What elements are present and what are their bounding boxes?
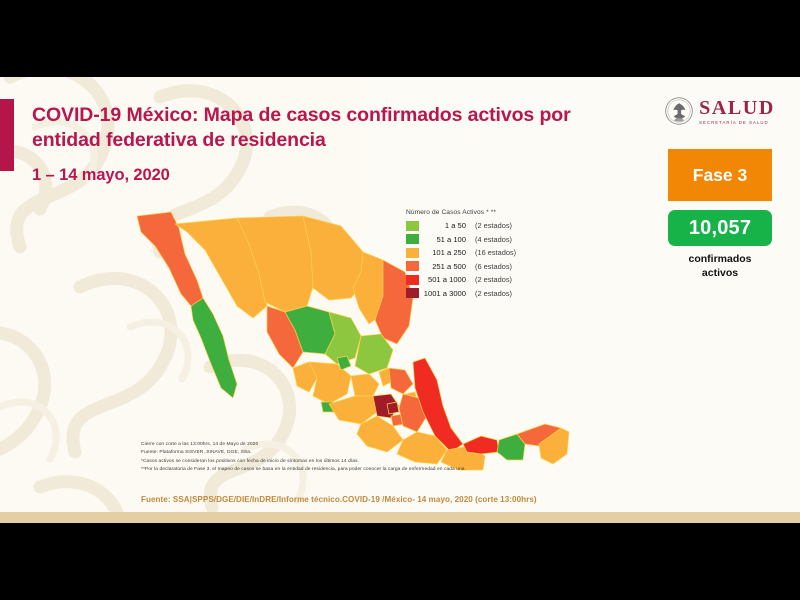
title-block: COVID-19 México: Mapa de casos confirmad…	[32, 103, 612, 185]
caption-line-2: activos	[650, 267, 790, 281]
state-hidalgo	[389, 368, 413, 394]
footnote-line: Fuente: Plataforma SISVER, SINAVE, DGE, …	[141, 449, 466, 457]
letterbox-top	[0, 0, 800, 77]
legend-swatch	[406, 248, 419, 258]
state-tabasco	[463, 436, 499, 454]
footnote-line: **Por la declaratoria de Fase 3, el mape…	[141, 466, 466, 474]
legend-swatch	[406, 261, 419, 271]
map-footnotes: Cierre con corte a las 13:00hrs, 14 de M…	[141, 441, 466, 475]
legend-swatch	[406, 221, 419, 231]
active-cases-badge: 10,057	[668, 210, 772, 246]
legend-swatch	[406, 234, 419, 244]
active-cases-value: 10,057	[689, 217, 751, 240]
state-guanajuato	[351, 374, 379, 396]
phase-badge: Fase 3	[668, 149, 772, 201]
presentation-slide: COVID-19 México: Mapa de casos confirmad…	[0, 77, 800, 523]
source-citation: Fuente: SSA|SPPS/DGE/DIE/InDRE/Informe t…	[141, 495, 537, 504]
footer-strip	[0, 512, 800, 523]
footnote-line: Cierre con corte a las 13:00hrs, 14 de M…	[141, 441, 466, 449]
legend-title: Número de Casos Activos * **	[406, 209, 516, 216]
legend-range: 101 a 250	[419, 248, 475, 257]
legend-item: 251 a 500 (6 estados)	[406, 260, 516, 272]
caption-line-1: confirmados	[650, 253, 790, 267]
legend-state-count: (4 estados)	[475, 235, 512, 244]
phase-label: Fase 3	[693, 165, 747, 186]
legend-item: 51 a 100 (4 estados)	[406, 233, 516, 245]
legend-item: 1001 a 3000 (2 estados)	[406, 287, 516, 299]
legend-state-count: (6 estados)	[475, 262, 512, 271]
slide-stage: COVID-19 México: Mapa de casos confirmad…	[0, 0, 800, 600]
legend-range: 251 a 500	[419, 262, 475, 271]
salud-logo: SALUD SECRETARÍA DE SALUD	[650, 91, 790, 131]
legend-range: 51 a 100	[419, 235, 475, 244]
title-accent-bar	[0, 99, 14, 171]
legend-swatch	[406, 288, 419, 298]
active-cases-caption: confirmados activos	[650, 253, 790, 280]
legend-item: 1 a 50 (2 estados)	[406, 220, 516, 232]
legend-item: 101 a 250 (16 estados)	[406, 247, 516, 259]
legend-state-count: (16 estados)	[475, 248, 516, 257]
logo-tagline: SECRETARÍA DE SALUD	[699, 120, 775, 125]
page-title: COVID-19 México: Mapa de casos confirmad…	[32, 103, 612, 152]
state-baja-california-sur	[191, 298, 237, 398]
page-subtitle: 1 – 14 mayo, 2020	[32, 166, 612, 185]
legend-state-count: (2 estados)	[475, 289, 512, 298]
legend-range: 501 a 1000	[419, 275, 475, 284]
legend-state-count: (2 estados)	[475, 275, 512, 284]
legend-item: 501 a 1000 (2 estados)	[406, 274, 516, 286]
letterbox-bottom	[0, 523, 800, 600]
legend-range: 1 a 50	[419, 221, 475, 230]
summary-panel: SALUD SECRETARÍA DE SALUD Fase 3 10,057 …	[650, 91, 790, 280]
legend-state-count: (2 estados)	[475, 221, 512, 230]
logo-wordmark: SALUD	[699, 98, 775, 118]
national-emblem-icon	[665, 97, 693, 125]
map-legend: Número de Casos Activos * ** 1 a 50 (2 e…	[406, 209, 516, 301]
state-ciudad-de-mexico	[387, 402, 399, 414]
footnote-line: *Casos activos se consideran los positiv…	[141, 458, 466, 466]
legend-swatch	[406, 275, 419, 285]
legend-range: 1001 a 3000	[419, 289, 475, 298]
